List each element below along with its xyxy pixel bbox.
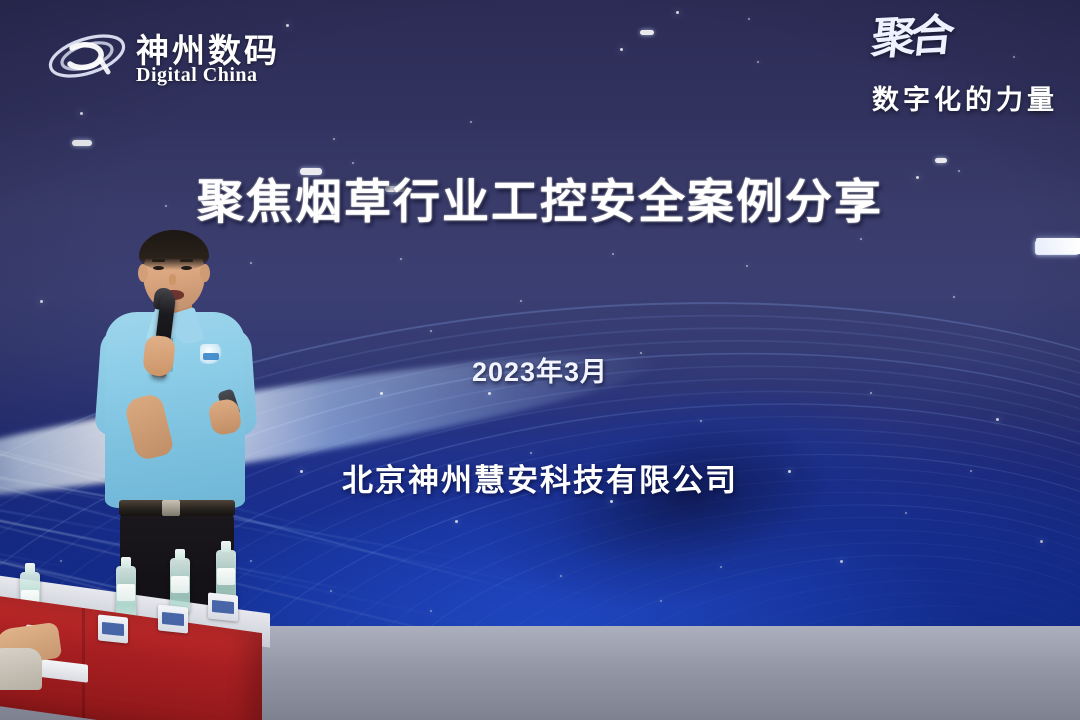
- slide-title: 聚焦烟草行业工控安全案例分享: [0, 178, 1080, 225]
- logo-en-text: Digital China: [136, 64, 258, 87]
- digital-china-swirl-icon: [44, 26, 130, 86]
- speaker-belt-buckle: [162, 500, 180, 516]
- name-card: [158, 604, 188, 633]
- screen-edge-highlight: [1036, 238, 1080, 254]
- speaker-brow-right: [180, 259, 193, 262]
- attendee-shoulder: [0, 648, 42, 690]
- theme-calligraphy: 聚合: [870, 16, 951, 60]
- name-card: [208, 592, 238, 621]
- speaker-eye-left: [153, 266, 164, 270]
- name-card: [98, 614, 128, 643]
- speaker-chest-logo: [200, 344, 222, 364]
- speaker-ear-right: [200, 264, 210, 282]
- speaker-hair: [139, 230, 209, 270]
- event-theme-logo: 聚合 数字化的力量: [808, 18, 1058, 116]
- theme-subtitle: 数字化的力量: [872, 78, 1058, 117]
- speaker-ear-left: [138, 264, 148, 282]
- speaker-eye-right: [181, 266, 192, 270]
- speaker-brow-left: [152, 259, 165, 262]
- presentation-scene: 神州数码 Digital China 聚合 数字化的力量 聚焦烟草行业工控安全案…: [0, 0, 1080, 720]
- speaker-nose: [169, 274, 176, 285]
- digital-china-logo: 神州数码 Digital China: [44, 20, 294, 92]
